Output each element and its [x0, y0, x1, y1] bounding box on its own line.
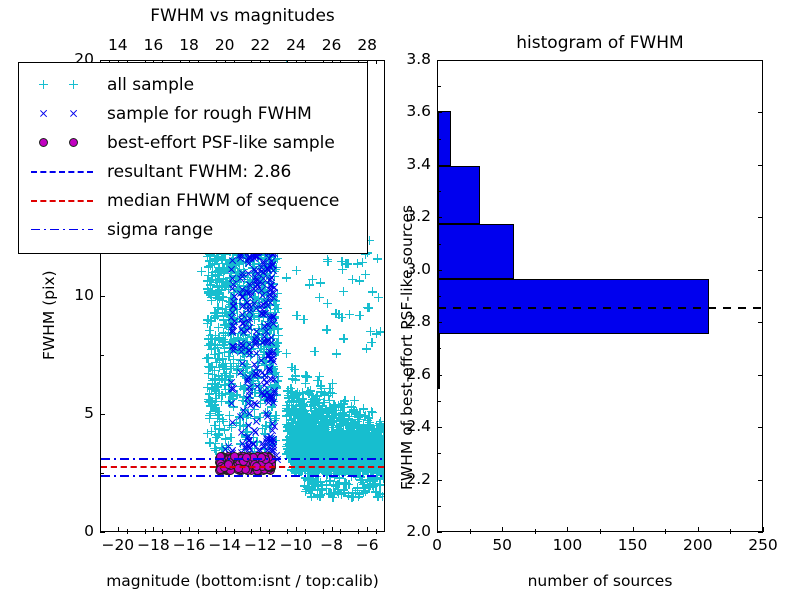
xtick-bottom: [189, 527, 190, 532]
hist-ytick: [437, 322, 442, 323]
all-sample-point: [288, 374, 297, 383]
hist-xtick-minor: [535, 529, 536, 534]
xtick-bottom: [332, 527, 333, 532]
hist-xtick-minor: [730, 529, 731, 534]
all-sample-point: [332, 349, 341, 358]
hist-xtick-label: 150: [613, 538, 653, 554]
legend-marker-glyph: [69, 80, 78, 89]
all-sample-point: [316, 278, 325, 287]
all-sample-point: [326, 489, 335, 498]
all-sample-point: [303, 387, 312, 396]
hist-ytick-label: 3.4: [389, 157, 431, 173]
all-sample-point: [375, 419, 384, 428]
ytick: [100, 532, 105, 533]
xtick-bottom: [225, 527, 226, 532]
rough-sample-point: [262, 437, 271, 446]
xtick-minor-bottom: [127, 529, 128, 534]
all-sample-point: [299, 315, 308, 324]
legend-item[interactable]: median FHWM of sequence: [25, 186, 361, 215]
left-xaxis-title: magnitude (bottom:isnt / top:calib): [100, 572, 385, 590]
all-sample-point: [282, 273, 291, 282]
legend-marker-glyph: [69, 109, 78, 118]
hist-ytick-minor: [438, 453, 441, 454]
legend-marker-plus-icon: [25, 74, 103, 96]
xtick-label-bottom: −20: [101, 538, 135, 554]
xtick-minor-bottom: [251, 529, 252, 534]
rough-sample-point: [268, 261, 277, 270]
xtick-minor-bottom: [198, 529, 199, 534]
xtick-label-bottom: −16: [172, 538, 206, 554]
legend-item[interactable]: best-effort PSF-like sample: [25, 128, 361, 157]
all-sample-point: [365, 477, 374, 486]
legend-box[interactable]: all samplesample for rough FWHMbest-effo…: [18, 62, 368, 254]
hist-xtick: [763, 527, 764, 532]
all-sample-point: [339, 287, 348, 296]
hist-ytick-right: [758, 480, 763, 481]
ytick-label: 10: [58, 288, 94, 304]
all-sample-point: [283, 386, 292, 395]
hist-xtick-label: 0: [417, 538, 457, 554]
hist-ytick: [437, 427, 442, 428]
xtick-label-top: 14: [104, 38, 132, 54]
all-sample-point: [353, 259, 362, 268]
all-sample-point: [324, 391, 333, 400]
hist-resultant-fwhm-line: [438, 307, 762, 309]
xtick-label-bottom: −10: [279, 538, 313, 554]
hist-ytick: [437, 165, 442, 166]
hist-xtick-label: 250: [743, 538, 783, 554]
sigma-range-upper-line: [101, 457, 384, 460]
legend-line-glyph: [31, 171, 93, 173]
hist-xtick-label: 50: [482, 538, 522, 554]
hist-ytick-right: [758, 112, 763, 113]
hist-ytick-right: [758, 270, 763, 271]
histogram-axes[interactable]: [437, 60, 763, 532]
rough-sample-point: [238, 359, 247, 368]
all-sample-point: [355, 311, 364, 320]
xtick-minor-bottom: [340, 529, 341, 534]
xtick-label-bottom: −12: [243, 538, 277, 554]
legend-item-label: median FHWM of sequence: [103, 191, 339, 211]
histogram-bar: [438, 166, 480, 224]
rough-sample-point: [250, 399, 259, 408]
all-sample-point: [282, 349, 291, 358]
all-sample-point: [323, 299, 332, 308]
hist-ytick-label: 3.6: [389, 104, 431, 120]
xtick-label-bottom: −8: [315, 538, 349, 554]
ytick-minor: [101, 355, 104, 356]
all-sample-point: [290, 365, 299, 374]
histogram-bar: [438, 334, 440, 389]
rough-sample-point: [270, 375, 279, 384]
all-sample-point: [323, 255, 332, 264]
legend-marker-glyph: [39, 138, 48, 147]
hist-xtick: [567, 527, 568, 532]
hist-ytick-right: [758, 427, 763, 428]
xtick-label-bottom: −6: [350, 538, 384, 554]
all-sample-point: [374, 293, 383, 302]
hist-ytick-right: [758, 532, 763, 533]
all-sample-point: [322, 325, 331, 334]
rough-sample-point: [270, 388, 279, 397]
histogram-plot-area: [438, 61, 762, 531]
xtick-label-top: 18: [175, 38, 203, 54]
all-sample-point: [310, 426, 319, 435]
rough-sample-point: [270, 422, 279, 431]
all-sample-point: [340, 403, 349, 412]
xtick-label-top: 20: [211, 38, 239, 54]
xtick-minor-bottom: [216, 529, 217, 534]
ytick-label: 0: [58, 524, 94, 540]
hist-ytick: [437, 112, 442, 113]
rough-sample-point: [262, 409, 271, 418]
all-sample-point: [310, 347, 319, 356]
all-sample-point: [208, 287, 217, 296]
legend-item[interactable]: resultant FWHM: 2.86: [25, 157, 361, 186]
legend-marker-glyph: [39, 109, 48, 118]
rough-sample-point: [250, 426, 259, 435]
all-sample-point: [322, 420, 331, 429]
legend-marker-glyph: [69, 138, 78, 147]
hist-ytick-minor: [438, 244, 441, 245]
all-sample-point: [290, 426, 299, 435]
hist-xtick: [502, 527, 503, 532]
legend-item-label: resultant FWHM: 2.86: [103, 162, 291, 182]
hist-ytick: [437, 217, 442, 218]
xtick-minor-bottom: [162, 529, 163, 534]
legend-item-label: sample for rough FWHM: [103, 104, 312, 124]
hist-ytick-minor: [438, 401, 441, 402]
ytick: [100, 60, 105, 61]
xtick-minor-bottom: [376, 529, 377, 534]
rough-sample-point: [238, 439, 247, 448]
hist-ytick: [437, 270, 442, 271]
median-fhwm-of-sequence-line: [101, 466, 384, 468]
xtick-bottom: [153, 527, 154, 532]
hist-ytick: [437, 480, 442, 481]
all-sample-point: [197, 267, 206, 276]
xtick-bottom: [367, 527, 368, 532]
hist-ytick-minor: [438, 191, 441, 192]
legend-marker-dashed-icon: [25, 161, 103, 183]
xtick-minor-bottom: [323, 529, 324, 534]
xtick-label-bottom: −14: [208, 538, 242, 554]
right-panel-title: histogram of FWHM: [437, 33, 763, 53]
right-xaxis-title: number of sources: [437, 572, 763, 590]
hist-ytick: [437, 375, 442, 376]
left-yaxis-title: FWHM (pix): [40, 270, 58, 360]
legend-item-label: sigma range: [103, 220, 213, 240]
all-sample-point: [374, 492, 383, 501]
ytick: [100, 296, 105, 297]
legend-item-label: all sample: [103, 75, 194, 95]
hist-ytick-right: [758, 375, 763, 376]
xtick-minor-top: [376, 61, 377, 64]
all-sample-point: [331, 309, 340, 318]
xtick-minor-bottom: [358, 529, 359, 534]
all-sample-point: [299, 400, 308, 409]
all-sample-point: [338, 265, 347, 274]
right-yaxis-title: FWHM of best-effort PSF-like sources: [398, 205, 416, 490]
rough-sample-point: [267, 338, 276, 347]
histogram-bar: [438, 279, 709, 334]
all-sample-point: [339, 488, 348, 497]
hist-ytick-minor: [438, 296, 441, 297]
legend-item[interactable]: sigma range: [25, 215, 361, 244]
hist-ytick-minor: [438, 348, 441, 349]
hist-ytick-right: [758, 217, 763, 218]
legend-item-label: best-effort PSF-like sample: [103, 133, 335, 153]
hist-xtick-minor: [665, 529, 666, 534]
all-sample-point: [301, 379, 310, 388]
legend-marker-dashed-icon: [25, 190, 103, 212]
hist-ytick-label: 2.0: [389, 524, 431, 540]
rough-sample-point: [267, 281, 276, 290]
all-sample-point: [375, 480, 384, 489]
all-sample-point: [301, 415, 310, 424]
xtick-bottom: [118, 527, 119, 532]
xtick-minor-bottom: [269, 529, 270, 534]
hist-ytick-minor: [438, 86, 441, 87]
hist-ytick-label: 3.8: [389, 52, 431, 68]
rough-sample-point: [269, 347, 278, 356]
xtick-minor-bottom: [234, 529, 235, 534]
xtick-minor-bottom: [287, 529, 288, 534]
all-sample-point: [292, 266, 301, 275]
all-sample-point: [325, 444, 334, 453]
rough-sample-point: [263, 301, 272, 310]
xtick-label-bottom: −18: [136, 538, 170, 554]
hist-xtick-minor: [470, 529, 471, 534]
all-sample-point: [306, 489, 315, 498]
hist-ytick-minor: [438, 139, 441, 140]
xtick-label-top: 26: [318, 38, 346, 54]
legend-item[interactable]: all sample: [25, 70, 361, 99]
xtick-bottom: [260, 527, 261, 532]
xtick-label-top: 24: [282, 38, 310, 54]
all-sample-point: [313, 398, 322, 407]
hist-ytick: [437, 60, 442, 61]
xtick-label-top: 16: [139, 38, 167, 54]
xtick-label-top: 28: [353, 38, 381, 54]
legend-marker-x-icon: [25, 103, 103, 125]
rough-sample-point: [229, 384, 238, 393]
hist-ytick-minor: [438, 506, 441, 507]
left-panel-title: FWHM vs magnitudes: [100, 6, 385, 26]
xtick-minor-bottom: [145, 529, 146, 534]
hist-xtick: [633, 527, 634, 532]
all-sample-point: [345, 310, 354, 319]
legend-item[interactable]: sample for rough FWHM: [25, 99, 361, 128]
rough-sample-point: [266, 355, 275, 364]
all-sample-point: [363, 303, 372, 312]
all-sample-point: [348, 488, 357, 497]
all-sample-point: [373, 254, 382, 263]
all-sample-point: [339, 334, 348, 343]
xtick-bottom: [296, 527, 297, 532]
rough-sample-point: [252, 417, 261, 426]
all-sample-point: [282, 411, 291, 420]
legend-marker-glyph: [39, 80, 48, 89]
all-sample-point: [348, 275, 357, 284]
hist-ytick: [437, 532, 442, 533]
hist-xtick: [698, 527, 699, 532]
all-sample-point: [322, 477, 331, 486]
legend-line-glyph: [31, 200, 93, 202]
legend-marker-dashdot-icon: [25, 219, 103, 241]
rough-sample-point: [227, 399, 236, 408]
hist-ytick-right: [758, 165, 763, 166]
hist-xtick-label: 200: [678, 538, 718, 554]
all-sample-point: [355, 410, 364, 419]
xtick-minor-bottom: [180, 529, 181, 534]
legend-marker-dot-icon: [25, 132, 103, 154]
rough-sample-point: [265, 365, 274, 374]
rough-sample-point: [269, 319, 278, 328]
all-sample-point: [336, 416, 345, 425]
rough-sample-point: [227, 265, 236, 274]
hist-xtick-minor: [600, 529, 601, 534]
all-sample-point: [349, 424, 358, 433]
all-sample-point: [312, 413, 321, 422]
ytick: [100, 414, 105, 415]
figure-canvas: FWHM vs magnitudes −20−18−16−14−12−10−8−…: [0, 0, 800, 600]
all-sample-point: [319, 434, 328, 443]
xtick-label-top: 22: [246, 38, 274, 54]
all-sample-point: [362, 344, 371, 353]
hist-ytick-right: [758, 322, 763, 323]
sigma-range-lower-line: [101, 474, 384, 477]
ytick-label: 5: [58, 406, 94, 422]
histogram-bar: [438, 224, 514, 279]
xtick-minor-bottom: [305, 529, 306, 534]
hist-ytick-right: [758, 60, 763, 61]
legend-line-glyph: [31, 229, 93, 231]
all-sample-point: [361, 270, 370, 279]
hist-xtick-label: 100: [547, 538, 587, 554]
